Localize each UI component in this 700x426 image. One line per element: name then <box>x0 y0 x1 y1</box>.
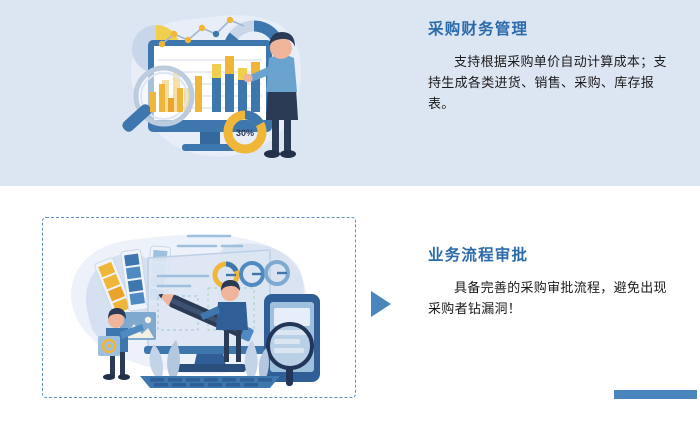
bottom-accent-bar <box>614 390 697 399</box>
section-purchase-finance-text: 采购财务管理 支持根据采购单价自动计算成本；支持生成各类进货、销售、采购、库存报… <box>428 20 678 115</box>
design-workflow-illustration <box>58 228 348 388</box>
body-purchase-finance: 支持根据采购单价自动计算成本；支持生成各类进货、销售、采购、库存报表。 <box>428 52 678 115</box>
analytics-svg: 30% <box>112 4 312 172</box>
section-business-process-text: 业务流程审批 具备完善的采购审批流程，避免出现采购者钻漏洞！ <box>428 246 678 320</box>
right-arrow-marker <box>371 291 391 317</box>
page-title-business-process: 业务流程审批 <box>428 246 678 265</box>
page-title-purchase-finance: 采购财务管理 <box>428 20 678 39</box>
keyboard <box>140 376 280 388</box>
workflow-svg <box>58 228 348 388</box>
body-business-process: 具备完善的采购审批流程，避免出现采购者钻漏洞！ <box>428 278 678 320</box>
donut-value-label: 30% <box>236 128 254 138</box>
page-root: 30% 采购财务管理 支持 <box>0 0 700 426</box>
data-analytics-illustration: 30% <box>112 4 312 172</box>
